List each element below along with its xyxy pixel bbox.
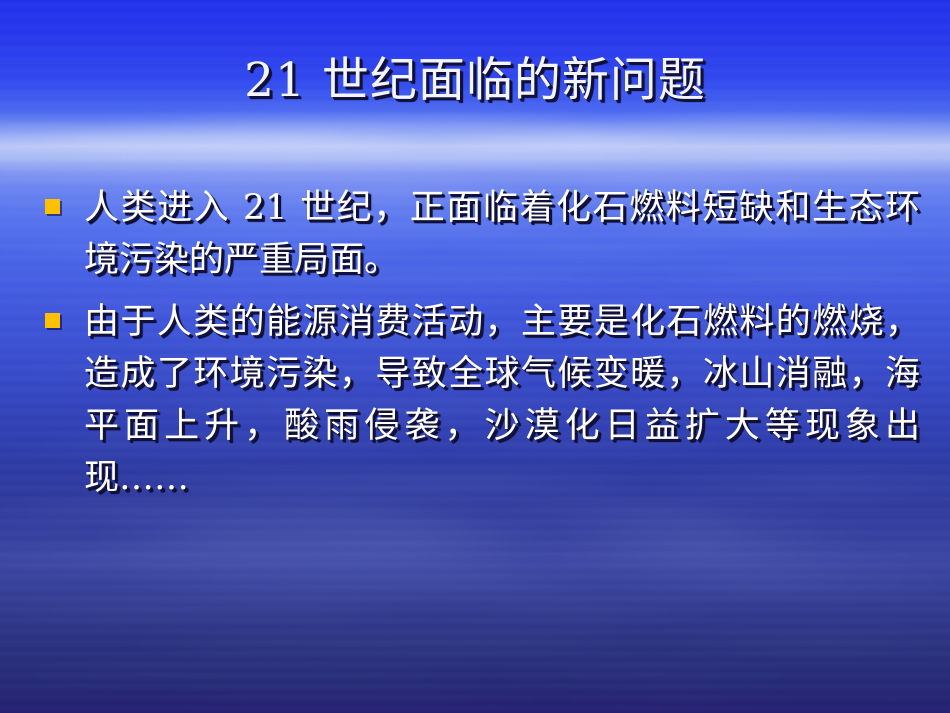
list-item[interactable]: 人类进入 21 世纪，正面临着化石燃料短缺和生态环境污染的严重局面。 (40, 182, 920, 286)
cloud-wisp (76, 576, 950, 589)
slide-title-area: 21 世纪面临的新问题 (0, 52, 950, 110)
cloud-wisp (76, 694, 893, 703)
cloud-wisp (0, 668, 874, 678)
bullet-text: 人类进入 21 世纪，正面临着化石燃料短缺和生态环境污染的严重局面。 (84, 182, 920, 286)
cloud-wisp (76, 636, 950, 648)
cloud-wisp (0, 168, 874, 175)
cloud-wisp (76, 528, 893, 542)
cloud-wisp (76, 152, 950, 161)
bullet-text: 由于人类的能源消费活动，主要是化石燃料的燃烧，造成了环境污染，导致全球气候变暖，… (84, 296, 920, 504)
cloud-wisp (0, 134, 779, 147)
page-title: 21 世纪面临的新问题 (244, 52, 706, 110)
cloud-wisp (0, 552, 950, 563)
cloud-wisp (76, 118, 950, 128)
square-bullet-icon (45, 199, 60, 214)
list-item[interactable]: 由于人类的能源消费活动，主要是化石燃料的燃烧，造成了环境污染，导致全球气候变暖，… (40, 296, 920, 504)
square-bullet-icon (45, 313, 60, 328)
cloud-wisp (0, 604, 779, 614)
presentation-slide: 21 世纪面临的新问题 人类进入 21 世纪，正面临着化石燃料短缺和生态环境污染… (0, 0, 950, 713)
slide-body: 人类进入 21 世纪，正面临着化石燃料短缺和生态环境污染的严重局面。 由于人类的… (40, 182, 920, 514)
